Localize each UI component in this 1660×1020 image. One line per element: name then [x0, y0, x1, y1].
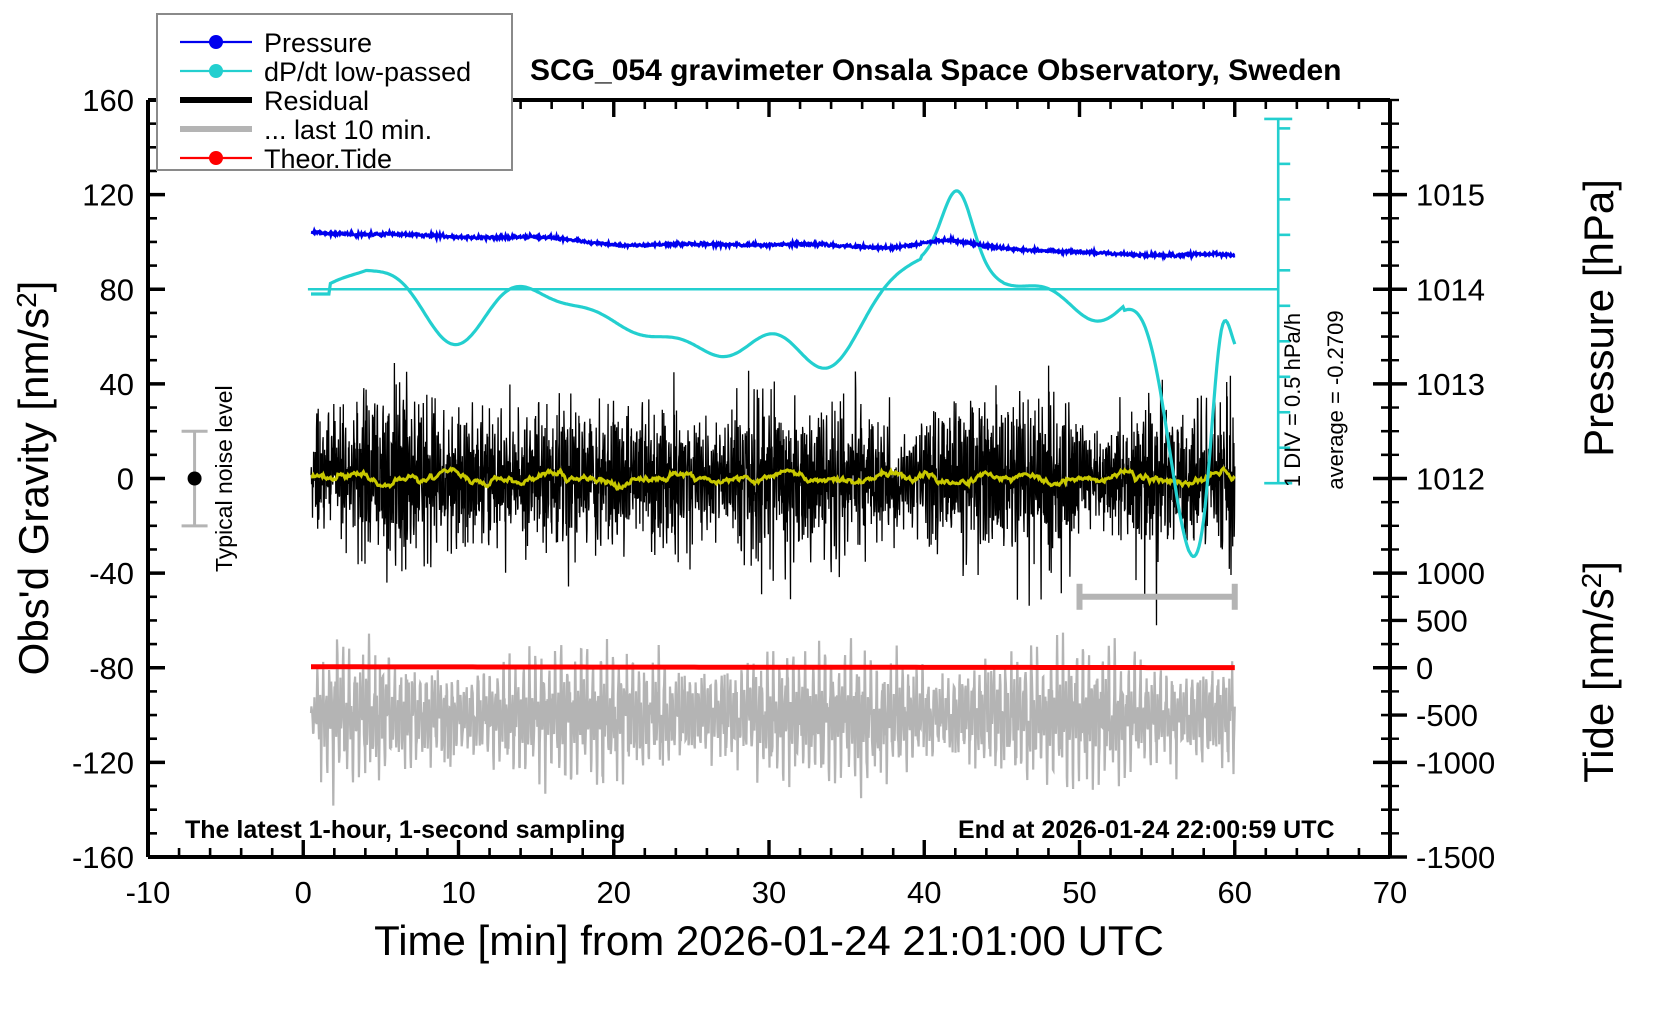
gravimeter-figure: 16012080400-40-80-120-160 -1001020304050…	[0, 0, 1660, 1020]
left-tick-label: -40	[89, 556, 134, 591]
tide-axis-title-main: Tide [nm/s	[1575, 588, 1622, 783]
tide-tick-label: 0	[1416, 651, 1433, 686]
pressure-tick-label: 1012	[1416, 462, 1485, 497]
svg-text:Tide [nm/s2]: Tide [nm/s2]	[1575, 561, 1622, 783]
pressure-axis-title: Pressure [hPa]	[1575, 179, 1622, 457]
trace-theoretical-tide	[311, 667, 1235, 668]
bottom-tick-label: 0	[295, 875, 312, 910]
pressure-tick-label: 1014	[1416, 272, 1485, 307]
legend-swatch-marker	[209, 35, 223, 49]
left-tick-label: 80	[100, 272, 134, 307]
svg-text:Obs'd Gravity [nm/s2]: Obs'd Gravity [nm/s2]	[10, 281, 57, 676]
dpdt-average-label: average = -0.2709	[1323, 310, 1348, 489]
page-title: SCG_054 gravimeter Onsala Space Observat…	[530, 54, 1342, 87]
legend-item-label: Residual	[264, 86, 369, 116]
tide-tick-label: -1000	[1416, 745, 1495, 780]
chart-canvas: 16012080400-40-80-120-160 -1001020304050…	[0, 0, 1660, 1020]
tide-tick-label: -1500	[1416, 840, 1495, 875]
legend-item-label: Theor.Tide	[264, 144, 392, 174]
bottom-tick-label: 70	[1373, 875, 1407, 910]
footer-left-note: The latest 1-hour, 1-second sampling	[185, 816, 625, 844]
left-tick-label: 160	[82, 83, 134, 118]
bottom-tick-label: 40	[907, 875, 941, 910]
left-tick-label: 120	[82, 178, 134, 213]
left-axis-title-close: ]	[10, 281, 57, 293]
typical-noise-level-label: Typical noise level	[211, 385, 237, 572]
tide-axis-title: Tide [nm/s2]	[1575, 561, 1622, 783]
left-axis-title-main: Obs'd Gravity [nm/s	[10, 308, 57, 675]
bottom-tick-label: 50	[1062, 875, 1096, 910]
bottom-tick-label: 30	[752, 875, 786, 910]
left-axis-title: Obs'd Gravity [nm/s2]	[10, 281, 57, 676]
legend-swatch-marker	[209, 151, 223, 165]
pressure-tick-label: 1015	[1416, 178, 1485, 213]
legend[interactable]: PressuredP/dt low-passedResidual... last…	[157, 14, 512, 174]
pressure-tick-label: 1013	[1416, 367, 1485, 402]
bottom-axis-title: Time [min] from 2026-01-24 21:01:00 UTC	[374, 917, 1164, 964]
bottom-tick-label: -10	[126, 875, 171, 910]
legend-swatch-marker	[209, 64, 223, 78]
legend-item-label: dP/dt low-passed	[264, 57, 471, 87]
bottom-tick-label: 10	[441, 875, 475, 910]
left-tick-label: -160	[72, 840, 134, 875]
legend-item-label: ... last 10 min.	[264, 115, 432, 145]
left-tick-label: -80	[89, 651, 134, 686]
bottom-tick-label: 20	[597, 875, 631, 910]
left-tick-label: -120	[72, 745, 134, 780]
tide-axis-title-close: ]	[1575, 561, 1622, 573]
bottom-tick-label: 60	[1218, 875, 1252, 910]
footer-right-note: End at 2026-01-24 22:00:59 UTC	[958, 816, 1335, 844]
tide-tick-label: 500	[1416, 603, 1468, 638]
tide-axis-title-exponent: 2	[1576, 573, 1607, 589]
tide-tick-label: -500	[1416, 698, 1478, 733]
tide-tick-label: 1000	[1416, 556, 1485, 591]
left-tick-label: 0	[117, 462, 134, 497]
legend-item-label: Pressure	[264, 28, 372, 58]
dpdt-scale-label: 1 DIV = 0.5 hPa/h	[1280, 313, 1305, 487]
left-axis-title-exponent: 2	[11, 292, 42, 308]
left-tick-label: 40	[100, 367, 134, 402]
